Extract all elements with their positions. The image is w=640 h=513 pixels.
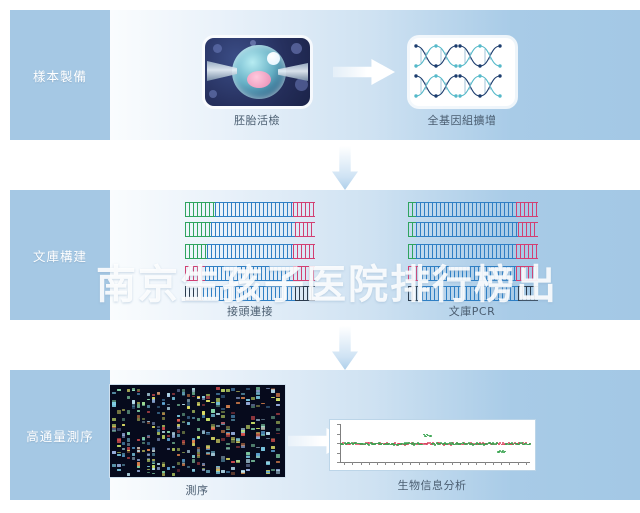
dna-helix-svg [410,38,515,106]
workflow-diagram: 樣本製備 胚胎活檢 [0,0,640,513]
step-caption-bioinformatics: 生物信息分析 [352,477,512,493]
stage-row-sample-prep: 樣本製備 胚胎活檢 [0,10,640,140]
stage-label-sequencing: 高通量測序 [10,370,110,500]
arrow-down-icon [332,146,358,190]
cnv-scatter-plot-icon [330,420,535,470]
step-caption-adapter-ligation: 接頭連接 [170,303,330,319]
arrow-right-icon [333,59,395,85]
step-caption-embryo-biopsy: 胚胎活檢 [177,112,337,128]
step-caption-library-pcr: 文庫PCR [392,303,552,319]
stage-row-sequencing: 高通量測序 [0,370,640,500]
dna-library-adapter-icon [185,200,315,300]
step-caption-sequencing: 測序 [117,482,277,498]
stage-row-library-construction: 文庫構建 [0,190,640,320]
stage-label-text: 高通量測序 [26,426,94,445]
stage-label-text: 樣本製備 [33,66,87,85]
step-caption-wga: 全基因組擴增 [382,112,542,128]
embryo-blastocyst-icon [205,38,310,106]
dna-double-helix-icon [410,38,515,106]
stage-label-library-construction: 文庫構建 [10,190,110,320]
inner-cell-mass-shape [247,71,271,88]
sequencing-gel-icon [110,385,285,477]
dna-library-pcr-icon [408,200,538,300]
stage-label-sample-prep: 樣本製備 [10,10,110,140]
vacuole-shape [267,52,280,65]
arrow-down-icon [332,326,358,370]
stage-label-text: 文庫構建 [33,246,87,265]
